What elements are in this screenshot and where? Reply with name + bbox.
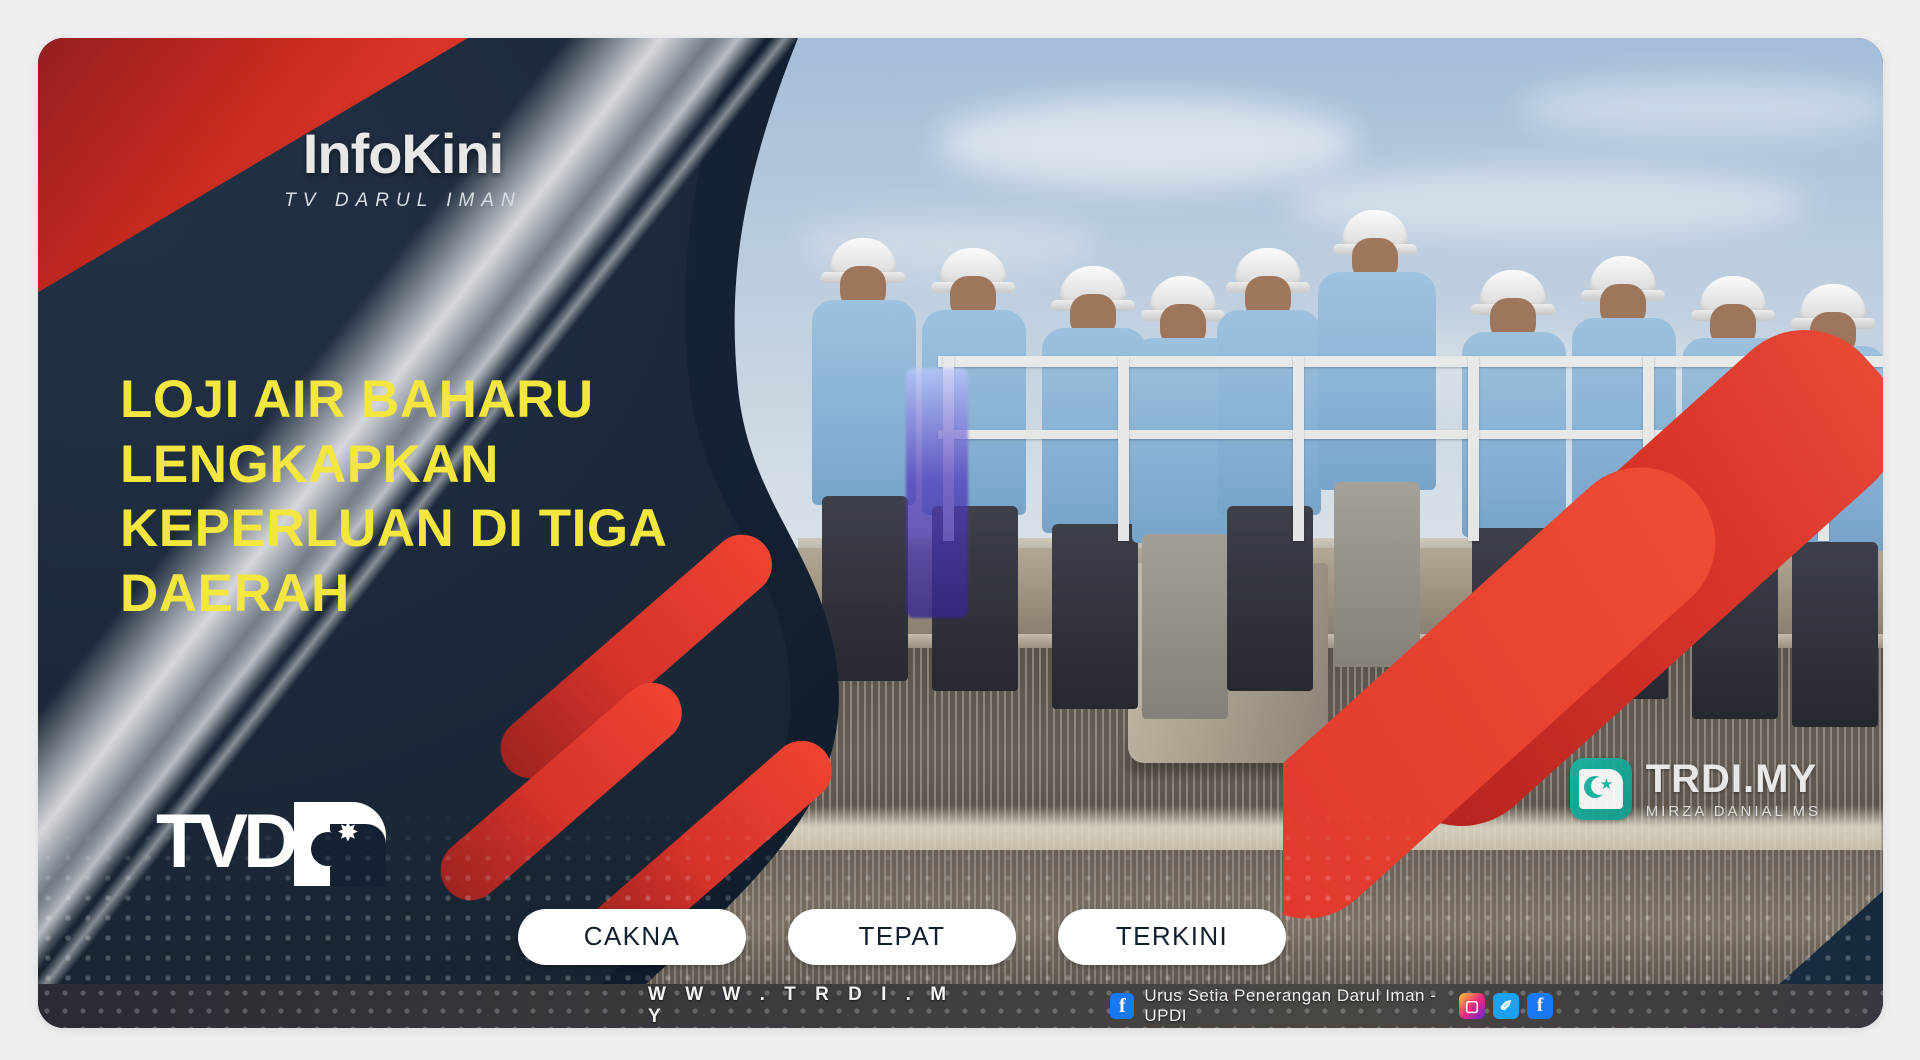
tag-pill-terkini[interactable]: TERKINI [1058, 909, 1286, 965]
trdi-watermark-text: TRDI.MY MIRZA DANIAL MS [1646, 759, 1821, 819]
legs [1334, 482, 1420, 667]
crescent-moon-icon [298, 828, 340, 870]
tag-pill-group: CAKNA TEPAT TERKINI [518, 909, 1286, 965]
tvd-logo: TVD ✸ [156, 802, 386, 888]
legs [1472, 528, 1558, 713]
watermark-subtitle: MIRZA DANIAL MS [1646, 804, 1821, 819]
legs [1692, 534, 1778, 719]
torso [1682, 338, 1786, 543]
legs [822, 496, 908, 681]
legs [1142, 534, 1228, 719]
screenshot-root: InfoKini TV DARUL IMAN LOJI AIR BAHARU L… [0, 0, 1920, 1060]
trdi-watermark: ★ TRDI.MY MIRZA DANIAL MS [1570, 758, 1821, 820]
railing-rail [938, 356, 1883, 367]
railing-post [1118, 356, 1129, 541]
news-card: InfoKini TV DARUL IMAN LOJI AIR BAHARU L… [38, 38, 1883, 1028]
railing-post [1293, 356, 1304, 541]
legs [1582, 514, 1668, 699]
brand-block: InfoKini TV DARUL IMAN [253, 126, 553, 212]
cloud [1518, 78, 1883, 138]
twitter-icon[interactable]: ✐ [1493, 993, 1519, 1019]
legs [1052, 524, 1138, 709]
railing-rail [938, 430, 1883, 439]
glass-column-artifact [906, 368, 968, 618]
torso [1572, 318, 1676, 523]
footer-facebook-page: Urus Setia Penerangan Darul Iman - UPDI [1144, 986, 1459, 1026]
railing-post [1818, 356, 1829, 541]
facebook-icon[interactable]: f [1110, 993, 1134, 1019]
torso [1217, 310, 1321, 515]
footer-facebook[interactable]: f Urus Setia Penerangan Darul Iman - UPD… [1110, 986, 1459, 1026]
tag-pill-cakna[interactable]: CAKNA [518, 909, 746, 965]
torso [1318, 272, 1436, 490]
footer-bar: W W W . T R D I . M Y f Urus Setia Pener… [38, 984, 1883, 1028]
tvd-logo-text: TVD [156, 804, 293, 880]
tag-pill-tepat[interactable]: TEPAT [788, 909, 1016, 965]
brand-title: InfoKini [253, 126, 553, 182]
trdi-app-icon: ★ [1570, 758, 1632, 820]
railing-post [1643, 356, 1654, 541]
watermark-title: TRDI.MY [1646, 759, 1821, 799]
footer-social-icons: ▢ ✐ f [1459, 993, 1553, 1019]
railing-post [1468, 356, 1479, 541]
cloud [938, 98, 1358, 188]
headline: LOJI AIR BAHARU LENGKAPKAN KEPERLUAN DI … [120, 368, 720, 627]
instagram-icon[interactable]: ▢ [1459, 993, 1485, 1019]
footer-website-url[interactable]: W W W . T R D I . M Y [648, 984, 960, 1028]
legs [1792, 542, 1878, 727]
torso [1782, 346, 1883, 551]
brand-subtitle: TV DARUL IMAN [253, 190, 553, 212]
facebook-icon[interactable]: f [1527, 993, 1553, 1019]
star-icon: ★ [1600, 777, 1613, 792]
torso [812, 300, 916, 505]
